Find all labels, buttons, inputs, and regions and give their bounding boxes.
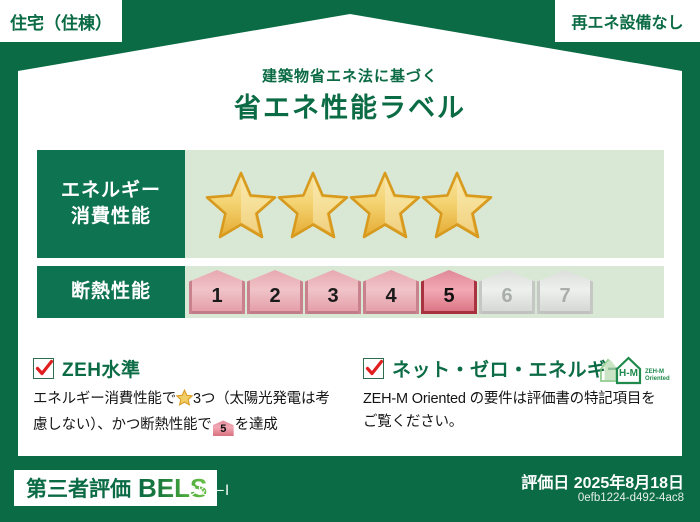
evaluation-date: 評価日 2025年8月18日 xyxy=(521,469,684,493)
insulation-grade-value: 2 xyxy=(269,285,280,308)
building-type-tag-label: 住宅（住棟） xyxy=(10,9,112,34)
insulation-performance-label: 断熱性能 xyxy=(37,266,185,318)
third-party-evaluation-label: 第三者評価 xyxy=(26,473,131,503)
insulation-grade-scale: 1234567 xyxy=(185,266,664,318)
energy-star-rating xyxy=(185,150,664,258)
insulation-grade-value: 4 xyxy=(385,285,396,308)
insulation-performance-label-line1: 断熱性能 xyxy=(71,279,151,305)
energy-consumption-row: エネルギー 消費性能 xyxy=(37,150,664,258)
net-zero-energy-claim-title: ネット・ゼロ・エネルギー xyxy=(392,355,626,382)
insulation-grade-badge: 5 xyxy=(213,420,234,436)
check-icon xyxy=(35,359,54,378)
energy-performance-label: 住宅（住棟） 再エネ設備なし 建築物省エネ法に基づく 省エネ性能ラベル エネルギ… xyxy=(0,0,700,522)
insulation-grade-6: 6 xyxy=(479,270,535,314)
label-title: 省エネ性能ラベル xyxy=(0,86,700,125)
renewable-energy-tag: 再エネ設備なし xyxy=(555,0,700,42)
insulation-grade-7: 7 xyxy=(537,270,593,314)
zeh-m-oriented-logo: H-M ZEH-M Oriented xyxy=(595,353,687,387)
insulation-grade-value: 3 xyxy=(327,285,338,308)
star-icon xyxy=(349,169,421,239)
insulation-grade-value: 5 xyxy=(443,285,454,308)
zeh-standard-claim: ZEH水準 エネルギー消費性能で3つ（太陽光発電は考慮しない）、かつ断熱性能で5… xyxy=(33,355,333,438)
label-subtitle: 建築物省エネ法に基づく xyxy=(0,65,700,86)
star-icon xyxy=(205,169,277,239)
zeh-m-logo-sub-line1: ZEH-M xyxy=(645,369,664,375)
net-zero-energy-claim-body: ZEH-M Oriented の要件は評価書の特記項目をご覧ください。 xyxy=(363,388,663,435)
zeh-standard-checkbox[interactable] xyxy=(33,358,54,379)
zeh-standard-claim-body: エネルギー消費性能で3つ（太陽光発電は考慮しない）、かつ断熱性能で5を達成 xyxy=(33,388,333,438)
zeh-body-part3: を達成 xyxy=(235,417,278,433)
zeh-body-part1: エネルギー消費性能で xyxy=(33,391,176,407)
star-icon xyxy=(421,169,493,239)
label-footer: 第三者評価 BELS C&A−Ⅰ 評価日 2025年8月18日 0efb1224… xyxy=(0,460,700,522)
bels-code: C&A−Ⅰ xyxy=(186,482,230,499)
star-icon xyxy=(277,169,349,239)
energy-consumption-label: エネルギー 消費性能 xyxy=(37,150,185,258)
zeh-standard-claim-title: ZEH水準 xyxy=(62,355,141,382)
energy-consumption-label-line1: エネルギー xyxy=(61,178,161,204)
star-icon xyxy=(176,389,193,414)
zeh-standard-claim-head: ZEH水準 xyxy=(33,355,333,381)
insulation-grade-1: 1 xyxy=(189,270,245,314)
energy-consumption-label-line2: 消費性能 xyxy=(71,204,151,230)
insulation-grade-5: 5 xyxy=(421,270,477,314)
insulation-grade-3: 3 xyxy=(305,270,361,314)
renewable-energy-tag-label: 再エネ設備なし xyxy=(571,9,683,33)
insulation-grade-value: 1 xyxy=(211,285,222,308)
net-zero-energy-checkbox[interactable] xyxy=(363,358,384,379)
insulation-grade-4: 4 xyxy=(363,270,419,314)
building-type-tag: 住宅（住棟） xyxy=(0,0,122,42)
check-icon xyxy=(365,359,384,378)
insulation-grade-value: 7 xyxy=(559,285,570,308)
net-zero-energy-claim: ネット・ゼロ・エネルギー H-M ZEH-M Oriented ZEH-M Or… xyxy=(363,355,663,435)
evaluation-id: 0efb1224-d492-4ac8 xyxy=(578,492,684,504)
insulation-performance-row: 断熱性能 1234567 xyxy=(37,266,664,318)
net-zero-energy-claim-head: ネット・ゼロ・エネルギー H-M ZEH-M Oriented xyxy=(363,355,663,381)
zeh-m-logo-mark: H-M xyxy=(619,368,638,379)
insulation-grade-value: 6 xyxy=(501,285,512,308)
insulation-grade-2: 2 xyxy=(247,270,303,314)
zeh-m-logo-sub-line2: Oriented xyxy=(645,376,670,382)
